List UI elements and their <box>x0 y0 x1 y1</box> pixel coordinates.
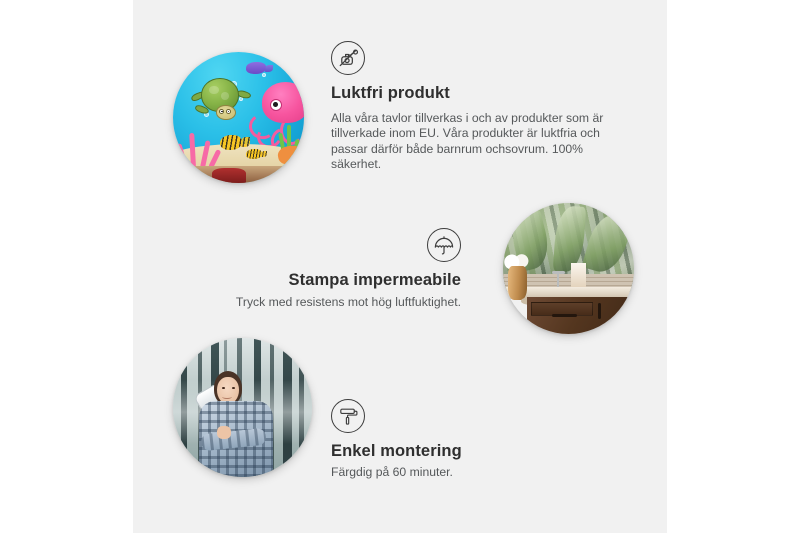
hand <box>217 426 230 439</box>
octopus-head <box>262 82 304 123</box>
feature-title: Luktfri produkt <box>331 84 631 104</box>
umbrella-icon <box>427 228 461 262</box>
feature-body: Alla våra tavlor tillverkas i och av pro… <box>331 111 631 173</box>
door-handle <box>598 303 601 319</box>
product-feature-panel: Luktfri produkt Alla våra tavlor tillver… <box>0 0 800 533</box>
bathroom-green-leaf-wallpaper-disc <box>503 203 634 334</box>
wooden-vanity-cabinet <box>527 297 634 334</box>
underwater-scene <box>173 52 304 183</box>
turtle-eye <box>219 109 224 114</box>
sea-turtle-icon <box>194 78 246 123</box>
feature-body: Färgdig på 60 minuter. <box>331 465 611 480</box>
no-odour-spray-bottle-icon <box>331 41 365 75</box>
turtle-head <box>216 105 236 120</box>
bathroom-scene <box>503 203 634 334</box>
turtle-eye <box>226 109 231 114</box>
childrens-underwater-scene-disc <box>173 52 304 183</box>
drawer-handle <box>552 314 577 317</box>
woman-with-paint-roller-forest-disc <box>173 338 312 477</box>
gold-vase <box>508 266 526 300</box>
feature-body: Tryck med resistens mot hög luftfuktighe… <box>160 295 461 310</box>
pink-coral-icon <box>180 128 219 167</box>
foreground-strip <box>173 166 304 183</box>
feature-waterproof-print: Stampa impermeabile Tryck med resistens … <box>160 228 461 310</box>
woman-figure <box>192 371 275 477</box>
feature-title: Enkel montering <box>331 442 611 462</box>
octopus-eye <box>270 99 282 111</box>
feature-title: Stampa impermeabile <box>160 271 461 291</box>
feature-easy-mounting: Enkel montering Färgdig på 60 minuter. <box>331 399 611 480</box>
forest-scene <box>173 338 312 477</box>
paint-roller-icon <box>331 399 365 433</box>
bubble-icon <box>262 73 266 77</box>
feature-odour-free: Luktfri produkt Alla våra tavlor tillver… <box>331 41 631 172</box>
